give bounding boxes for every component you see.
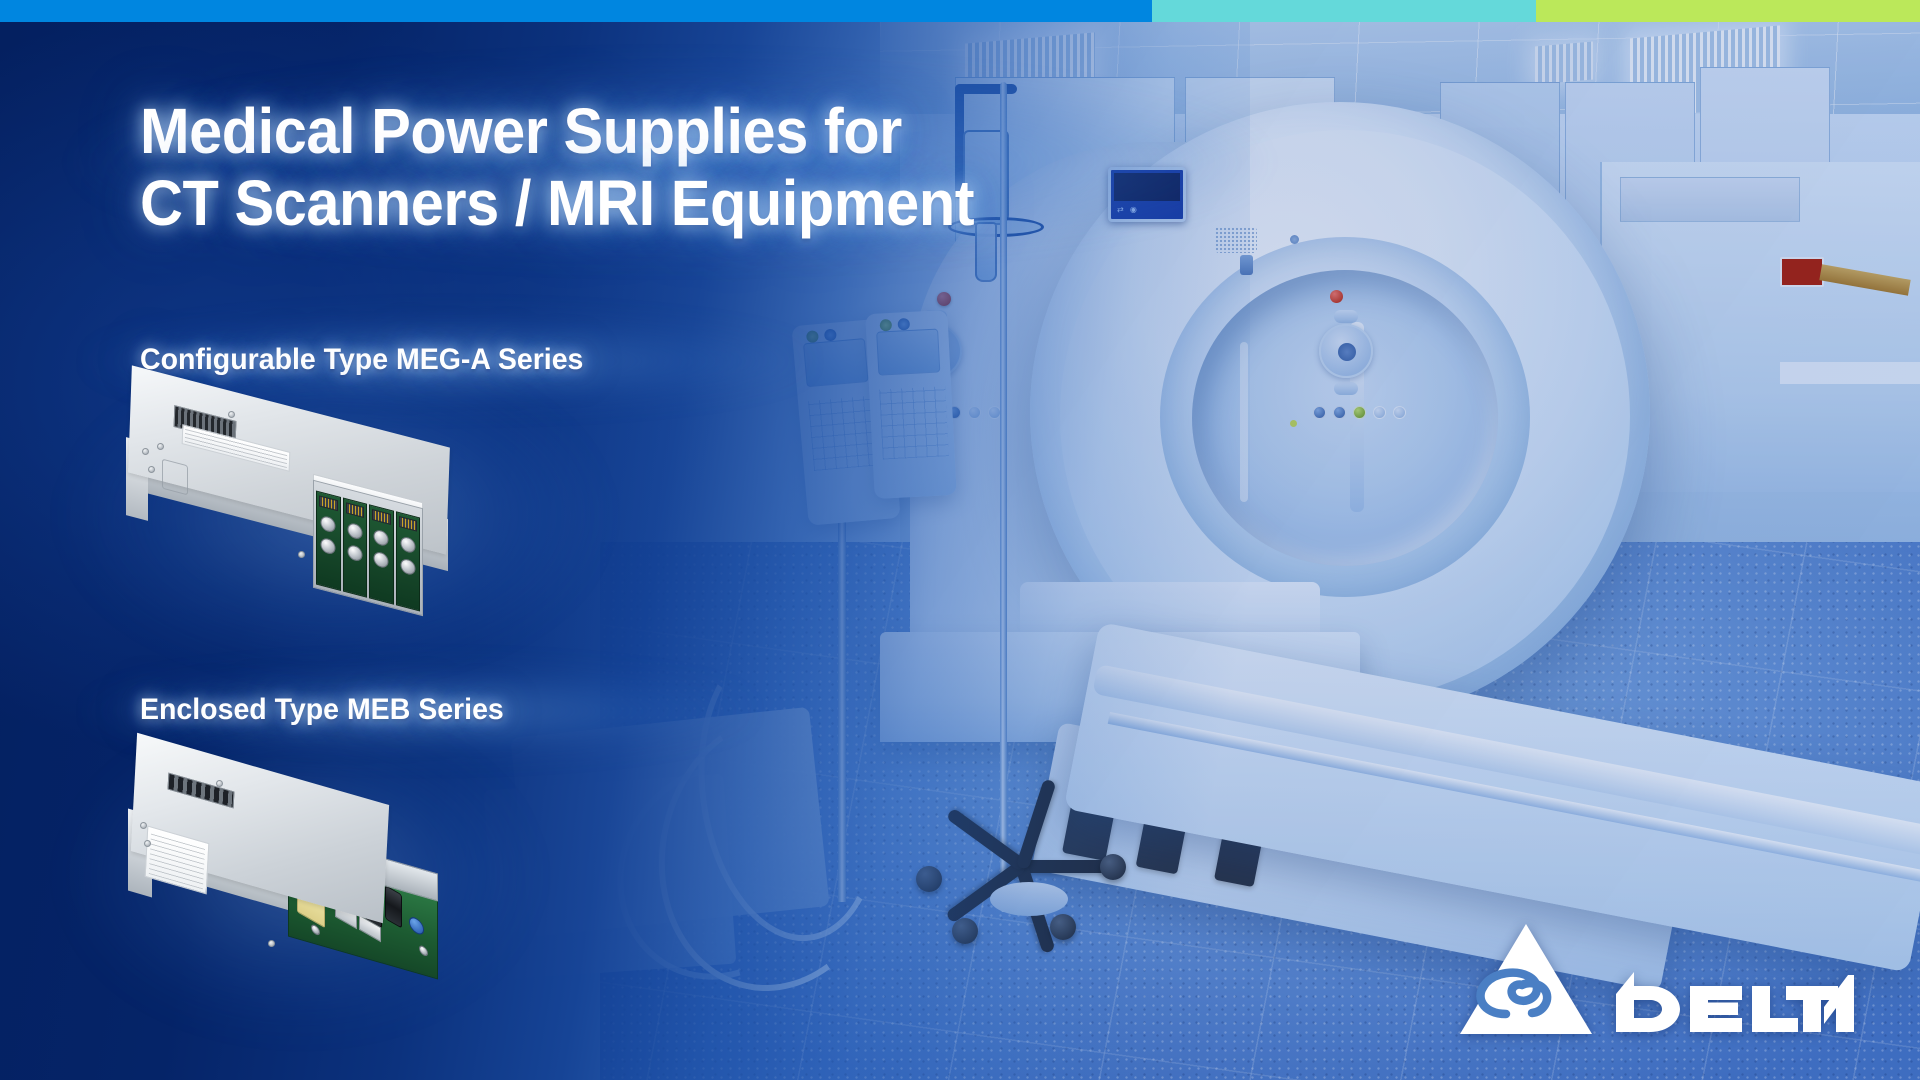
meg-a-screw xyxy=(157,443,164,450)
page-title: Medical Power Supplies for CT Scanners /… xyxy=(140,95,1182,240)
meb-screw xyxy=(140,822,147,829)
module-terminal-post xyxy=(347,544,362,563)
top-bar-segment-lime xyxy=(1536,0,1920,22)
product-image-meb xyxy=(120,760,480,990)
meg-a-output-module xyxy=(316,491,341,591)
meg-a-screw xyxy=(228,411,235,418)
meg-a-screw xyxy=(148,466,155,473)
product-label-meb-block: Enclosed Type MEB Series xyxy=(140,692,760,728)
module-connector xyxy=(399,516,418,532)
module-terminal-post xyxy=(400,535,415,554)
top-bar-segment-blue xyxy=(0,0,1152,22)
meg-a-output-module xyxy=(343,497,368,597)
module-terminal-post xyxy=(374,528,389,547)
meb-screw xyxy=(144,840,151,847)
blue-capacitor xyxy=(409,914,424,938)
meg-a-screw xyxy=(298,551,305,558)
module-connector xyxy=(372,509,391,525)
banner-root: ⇄ ◉ xyxy=(0,0,1920,1080)
meg-a-output-module xyxy=(396,511,421,611)
delta-logo[interactable] xyxy=(1456,918,1860,1038)
delta-triangle-icon xyxy=(1456,918,1596,1038)
delta-wordmark xyxy=(1610,966,1860,1038)
product-label-meg-a: Configurable Type MEG-A Series xyxy=(140,342,767,378)
pcb-screw xyxy=(419,944,428,958)
top-color-bar xyxy=(0,0,1920,22)
meg-a-screw xyxy=(142,448,149,455)
module-connector xyxy=(319,495,338,511)
product-label-meg-a-block: Configurable Type MEG-A Series xyxy=(140,342,800,378)
module-terminal-post xyxy=(321,537,336,556)
meg-a-embossed-mark xyxy=(162,459,188,496)
module-connector xyxy=(346,502,365,518)
module-terminal-post xyxy=(347,522,362,541)
product-label-meb: Enclosed Type MEB Series xyxy=(140,692,729,728)
meb-screw xyxy=(268,940,275,947)
product-image-meg-a xyxy=(120,400,550,630)
meg-a-output-module xyxy=(369,504,394,604)
electrolytic-capacitor xyxy=(385,885,402,929)
top-bar-segment-teal xyxy=(1152,0,1536,22)
meb-screw xyxy=(216,780,223,787)
module-terminal-post xyxy=(374,550,389,569)
module-terminal-post xyxy=(321,515,336,534)
headline-block: Medical Power Supplies for CT Scanners /… xyxy=(140,95,1260,240)
module-terminal-post xyxy=(400,557,415,576)
